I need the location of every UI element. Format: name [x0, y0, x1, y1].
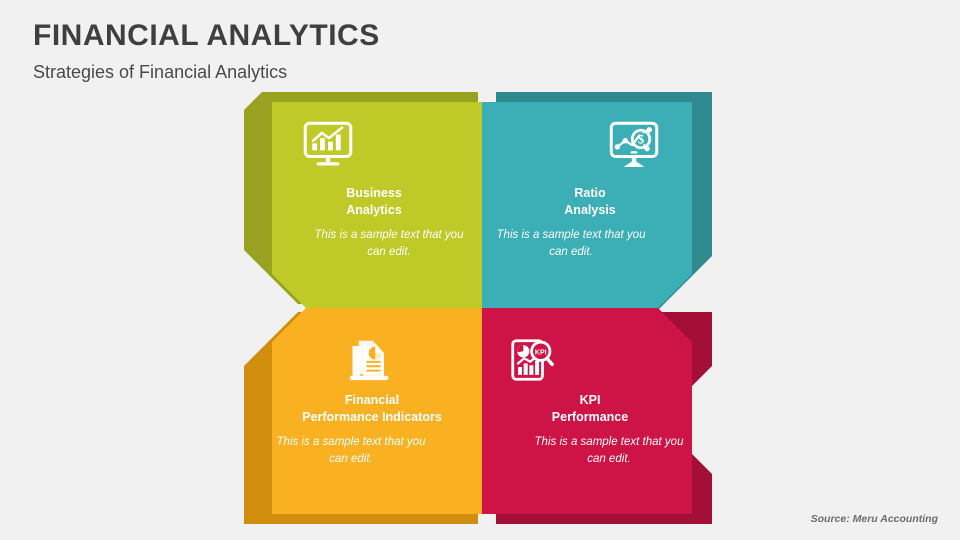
kpi-report-magnifier-icon: KPI: [504, 332, 560, 388]
quadrant-description: This is a sample text that you can edit.: [534, 434, 684, 467]
quadrant-description: This is a sample text that you can edit.: [314, 227, 464, 260]
source-attribution: Source: Meru Accounting: [811, 513, 938, 525]
quadrant-title: Ratio Analysis: [510, 185, 670, 218]
quadrant-kpi-performance[interactable]: KPI KPI Performance This is a sample tex…: [482, 308, 702, 520]
quadrant-description: This is a sample text that you can edit.: [496, 227, 646, 260]
slide-canvas: FINANCIAL ANALYTICS Strategies of Financ…: [0, 0, 960, 540]
quadrant-financial-performance-indicators[interactable]: Financial Performance Indicators This is…: [262, 308, 482, 520]
svg-text:$: $: [638, 132, 644, 146]
monitor-chart-icon: [300, 118, 356, 174]
quadrant-title: Financial Performance Indicators: [266, 392, 478, 425]
quadrant-description: This is a sample text that you can edit.: [276, 434, 426, 467]
page-title: FINANCIAL ANALYTICS: [33, 19, 380, 52]
quadrant-title: KPI Performance: [510, 392, 670, 425]
svg-text:KPI: KPI: [535, 349, 547, 356]
quadrant-title: Business Analytics: [294, 185, 454, 218]
monitor-dollar-network-icon: $: [606, 118, 662, 174]
page-subtitle: Strategies of Financial Analytics: [33, 62, 287, 83]
x-pinwheel-diagram: Business Analytics This is a sample text…: [262, 96, 702, 520]
documents-pie-report-icon: [342, 332, 398, 388]
quadrant-business-analytics[interactable]: Business Analytics This is a sample text…: [262, 96, 482, 308]
quadrant-ratio-analysis[interactable]: $ Ratio Analysis This is a sample text t…: [482, 96, 702, 308]
